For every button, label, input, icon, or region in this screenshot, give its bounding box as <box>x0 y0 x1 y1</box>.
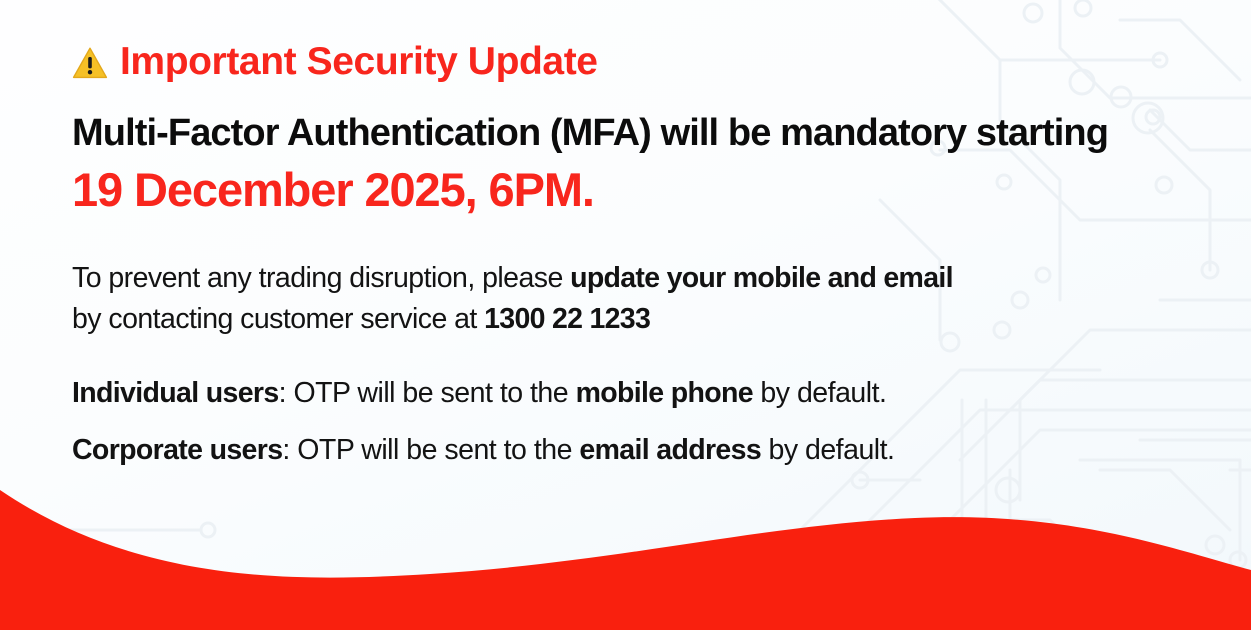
note-individual-users: Individual users: OTP will be sent to th… <box>72 373 1182 413</box>
headline-line-2-date: 19 December 2025, 6PM. <box>72 164 1182 216</box>
note-text-before: OTP will be sent to the <box>293 377 575 409</box>
banner-content: Important Security Update Multi-Factor A… <box>72 0 1182 470</box>
banner-title-text: Important Security Update <box>120 42 598 83</box>
headline-line-1: Multi-Factor Authentication (MFA) will b… <box>72 113 1182 155</box>
note-separator: : <box>279 377 294 409</box>
note-text-before: OTP will be sent to the <box>297 434 579 466</box>
note-text-after: by default. <box>761 434 894 466</box>
warning-triangle-icon <box>72 45 108 81</box>
note-separator: : <box>282 434 297 466</box>
note-text-after: by default. <box>753 377 886 409</box>
body-contact-prefix: by contacting customer service at <box>72 303 484 335</box>
body-lead-emphasis: update your mobile and email <box>570 262 953 294</box>
body-paragraph: To prevent any trading disruption, pleas… <box>72 258 1142 339</box>
note-label-corporate: Corporate users <box>72 434 282 466</box>
note-emphasis-mobile-phone: mobile phone <box>576 377 753 409</box>
note-label-individual: Individual users <box>72 377 279 409</box>
banner-title: Important Security Update <box>72 0 1182 83</box>
security-update-banner: Important Security Update Multi-Factor A… <box>0 0 1251 630</box>
red-wave-shape <box>0 470 1251 630</box>
note-corporate-users: Corporate users: OTP will be sent to the… <box>72 430 1182 470</box>
contact-phone-number: 1300 22 1233 <box>484 303 650 335</box>
body-lead-text: To prevent any trading disruption, pleas… <box>72 262 570 294</box>
note-emphasis-email-address: email address <box>579 434 761 466</box>
